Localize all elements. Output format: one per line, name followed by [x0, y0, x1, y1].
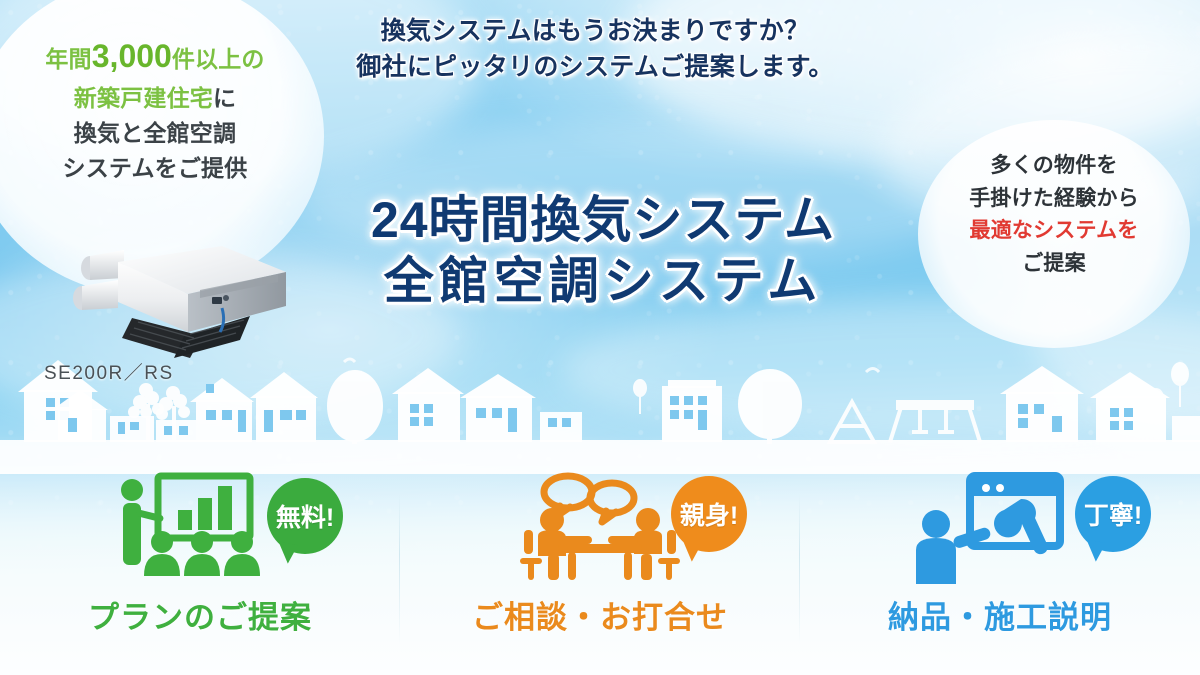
- step-2-label: ご相談・お打合せ: [472, 592, 728, 637]
- left-line2-dark: に: [213, 85, 236, 111]
- left-line1-prefix: 年間: [45, 46, 91, 72]
- step-3-icon-row: 丁寧!: [835, 470, 1165, 592]
- left-bubble-text: 年間3,000件以上の 新築戸建住宅に 換気と全館空調 システムをご提供: [0, 32, 310, 185]
- marketing-banner: 年間3,000件以上の 新築戸建住宅に 換気と全館空調 システムをご提供: [0, 0, 1200, 675]
- step-1-label: プランのご提案: [88, 592, 312, 637]
- step-2-badge: 親身!: [671, 476, 747, 552]
- left-bubble-line-3: 換気と全館空調: [0, 116, 310, 151]
- step-plan-proposal[interactable]: 無料! プランのご提案: [0, 470, 400, 675]
- lead-copy-line-1: 換気システムはもうお決まりですか？: [330, 14, 860, 50]
- badge-tail-icon: [274, 541, 298, 565]
- step-1-badge-text: 無料!: [276, 498, 334, 534]
- step-3-label: 納品・施工説明: [888, 592, 1112, 637]
- badge-tail-icon: [678, 539, 702, 563]
- left-bubble-line-2: 新築戸建住宅に: [0, 81, 310, 116]
- step-consultation-meeting[interactable]: 親身! ご相談・お打合せ: [400, 470, 800, 675]
- two-people-meeting-table-icon: [500, 472, 700, 590]
- step-2-icon-row: 親身!: [435, 470, 765, 592]
- step-1-icon-row: 無料!: [35, 470, 365, 592]
- person-wrench-window-icon: [900, 472, 1100, 590]
- right-bubble-line-2: 手掛けた経験から: [918, 183, 1190, 216]
- right-bubble-text: 多くの物件を 手掛けた経験から 最適なシステムを ご提案: [918, 150, 1190, 280]
- lead-copy-line-2: 御社にピッタリのシステムご提案します。: [330, 50, 860, 86]
- page-title: 24時間換気システム 全館空調システム: [318, 190, 888, 312]
- lead-copy: 換気システムはもうお決まりですか？ 御社にピッタリのシステムご提案します。: [330, 14, 860, 85]
- right-bubble-line-3-highlight: 最適なシステムを: [918, 215, 1190, 248]
- headline-line-2: 全館空調システム: [318, 251, 888, 312]
- service-steps: 無料! プランのご提案: [0, 470, 1200, 675]
- left-bubble-line-1: 年間3,000件以上の: [0, 32, 310, 81]
- step-3-badge-text: 丁寧!: [1084, 496, 1142, 532]
- left-line1-number: 3,000: [92, 38, 172, 74]
- badge-tail-icon: [1082, 539, 1106, 563]
- product-model-label: SE200R／RS: [44, 358, 174, 385]
- right-bubble-line-1: 多くの物件を: [918, 150, 1190, 183]
- left-line2-green: 新築戸建住宅: [74, 85, 213, 111]
- step-1-badge: 無料!: [267, 478, 343, 554]
- left-bubble-line-4: システムをご提供: [0, 151, 310, 186]
- right-bubble-line-4: ご提案: [918, 248, 1190, 281]
- step-delivery-installation[interactable]: 丁寧! 納品・施工説明: [800, 470, 1200, 675]
- headline-line-1: 24時間換気システム: [318, 190, 888, 251]
- left-line1-suffix: 件以上の: [172, 46, 265, 72]
- step-2-badge-text: 親身!: [680, 496, 738, 532]
- ventilation-unit-image: [72, 244, 292, 364]
- step-3-badge: 丁寧!: [1075, 476, 1151, 552]
